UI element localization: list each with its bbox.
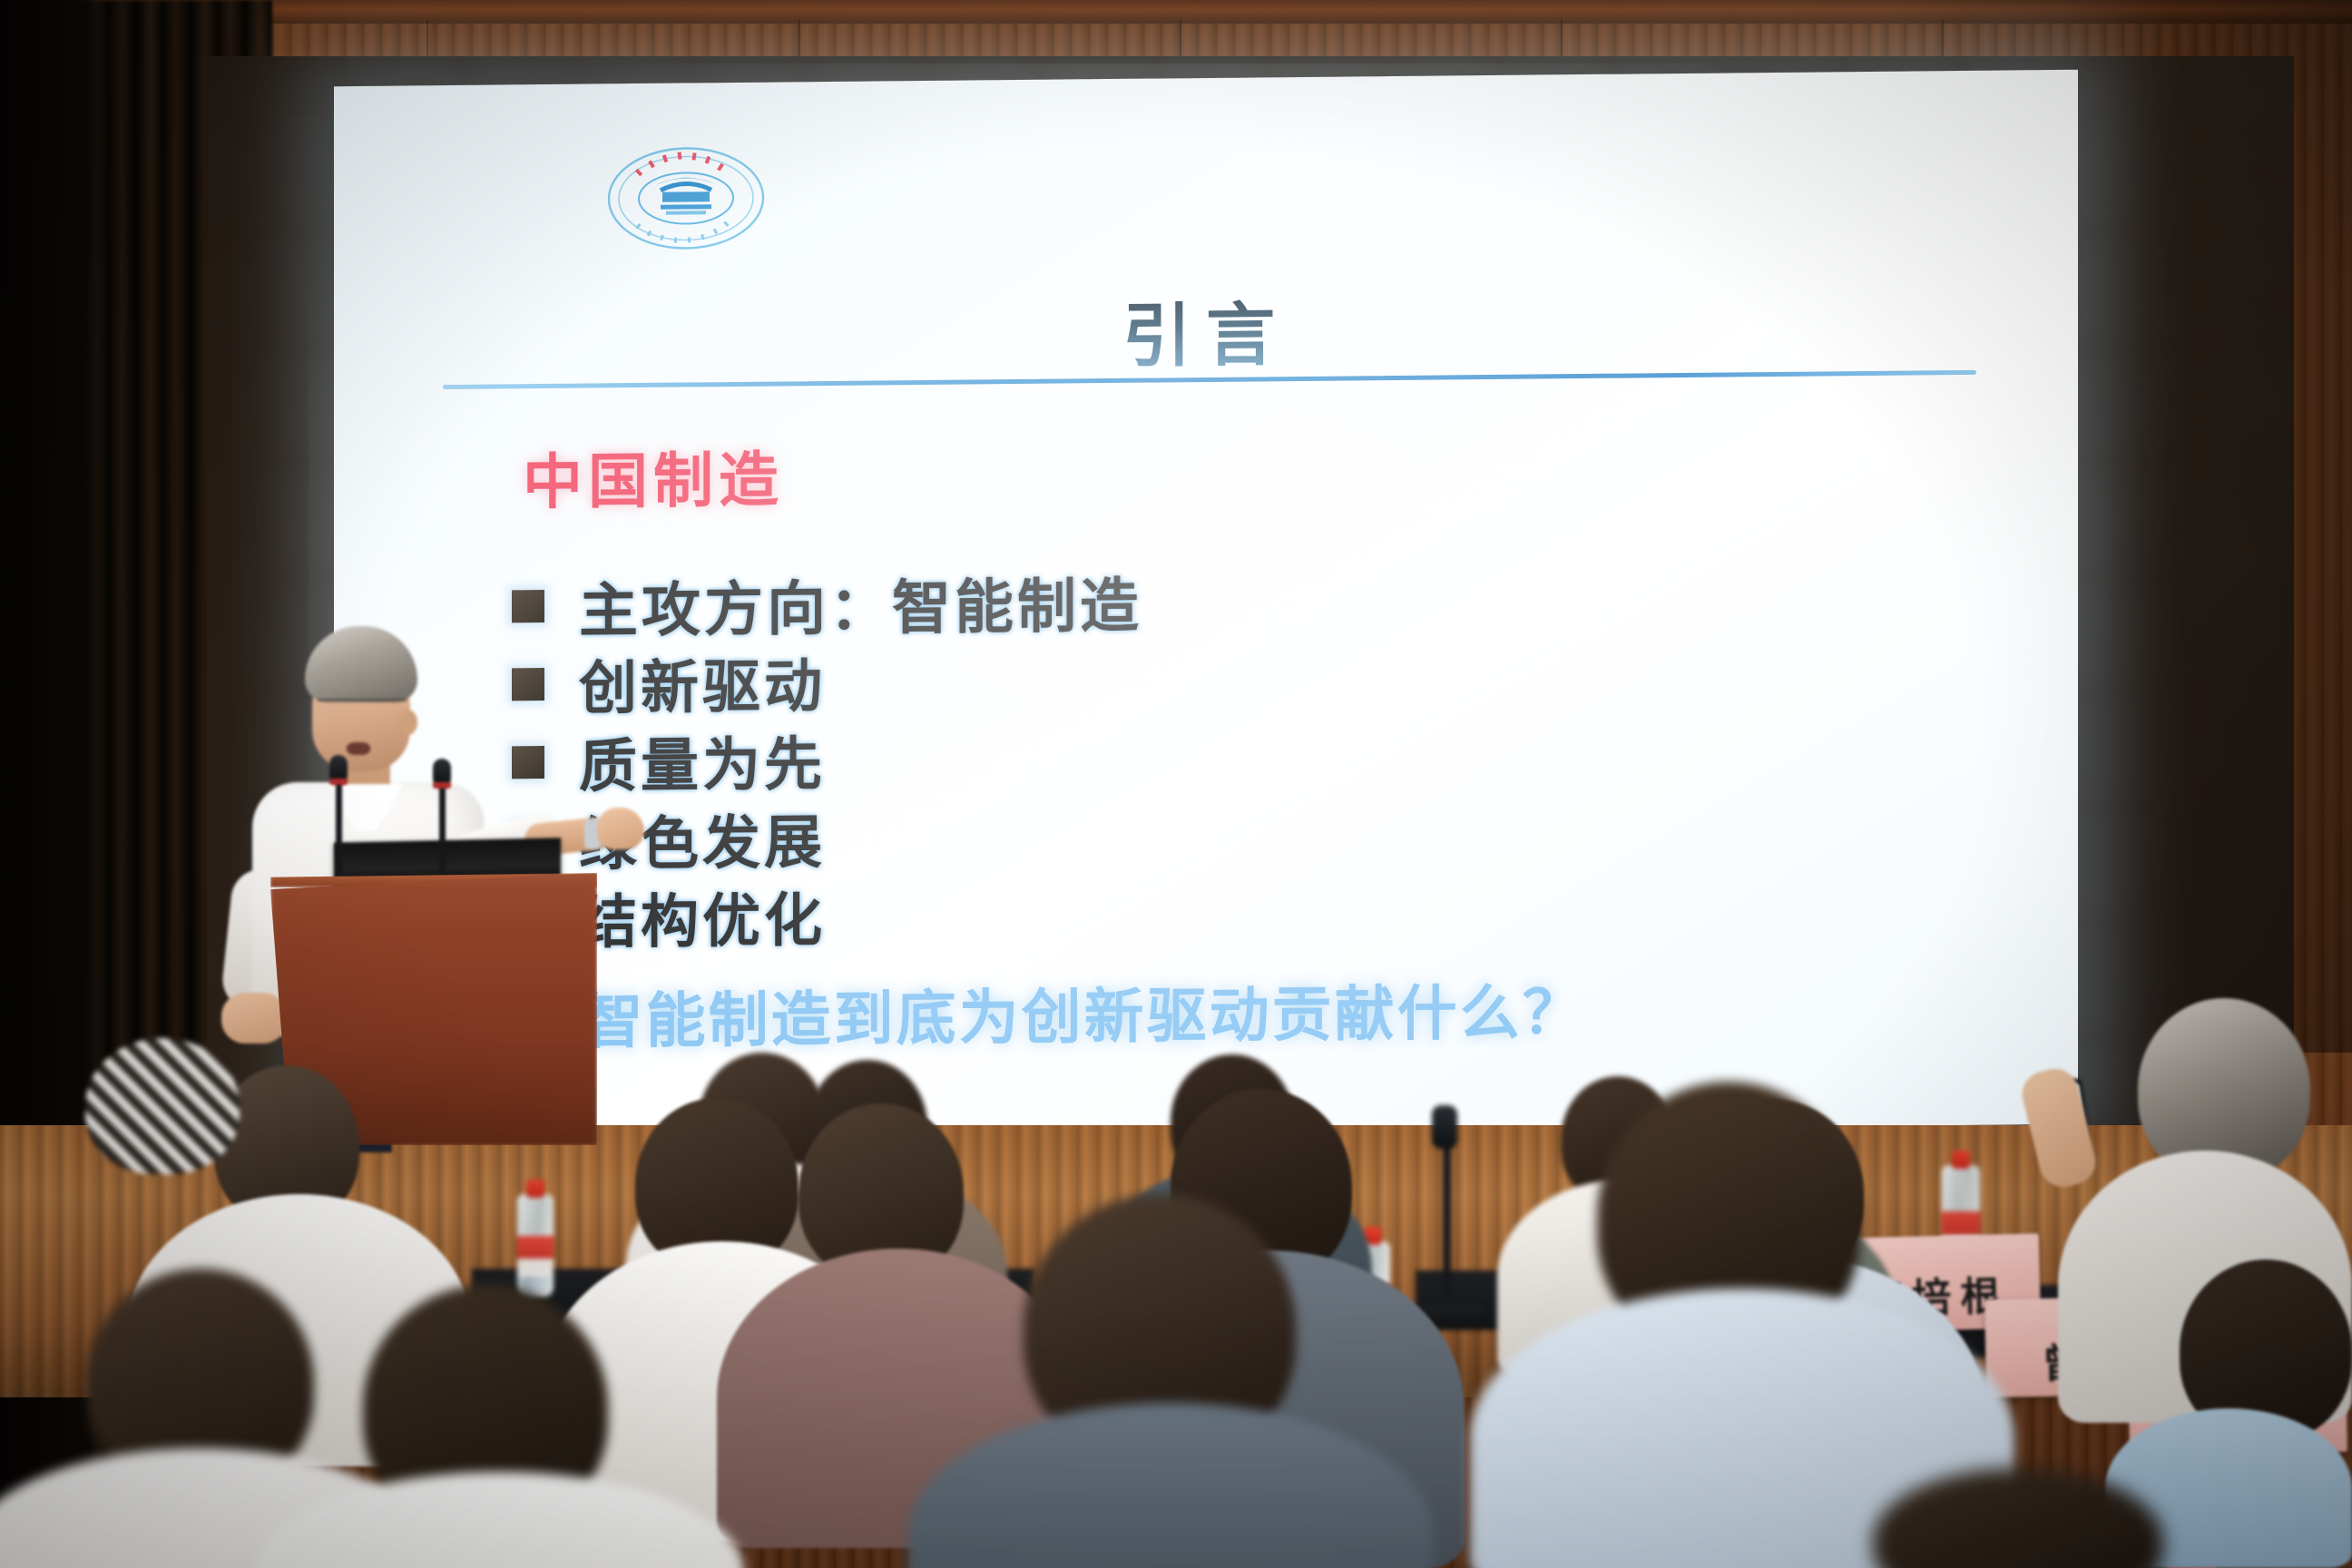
speaker-hair: [305, 626, 417, 702]
slide-question-line: ➢ 智能制造到底为创新驱动贡献什么？: [512, 964, 1585, 1061]
list-item: 主攻方向：智能制造: [512, 553, 2054, 645]
audience-microphone-stem: [1443, 1134, 1451, 1307]
bullet-label: 创新驱动: [579, 640, 826, 726]
speaker-left-hand: [221, 993, 287, 1044]
bullet-label: 结构优化: [579, 874, 826, 960]
question-label: 智能制造到底为创新驱动贡献什么？: [583, 964, 1585, 1061]
bottle-cap-icon: [526, 1180, 544, 1198]
bottle-cap-icon: [1952, 1151, 1970, 1169]
speaker-mouth: [347, 742, 370, 755]
square-bullet-icon: [512, 590, 544, 622]
university-seal-icon: [606, 144, 766, 253]
eyeglasses-icon: [318, 699, 407, 701]
speaker-ear: [399, 710, 417, 735]
bullet-label: 主攻方向：智能制造: [579, 558, 1142, 649]
audience-microphone: [1432, 1105, 1457, 1149]
list-item: 质量为先: [512, 709, 2054, 801]
slide-bullet-list: 主攻方向：智能制造 创新驱动 质量为先 绿色发展 结构优化: [512, 553, 2054, 957]
list-item: 绿色发展: [512, 787, 2054, 879]
bullet-label: 质量为先: [579, 718, 826, 804]
slide-section-heading: 中国制造: [523, 431, 784, 521]
speaker-right-hand: [597, 808, 644, 849]
water-bottle: [517, 1180, 554, 1298]
list-item: 结构优化: [512, 865, 2054, 957]
podium-microphone-stem: [336, 779, 342, 878]
slide-title: 引言: [334, 271, 2078, 387]
podium-microphone-stem: [439, 782, 446, 878]
microphone-indicator: [329, 779, 348, 785]
conference-hall-photo: 引言 中国制造 主攻方向：智能制造 创新驱动 质量为先 绿色发展 结构优化: [0, 0, 2352, 1568]
microphone-indicator: [433, 782, 451, 789]
audience-head-checkered-shirt: [85, 1038, 240, 1174]
list-item: 创新驱动: [512, 631, 2054, 723]
